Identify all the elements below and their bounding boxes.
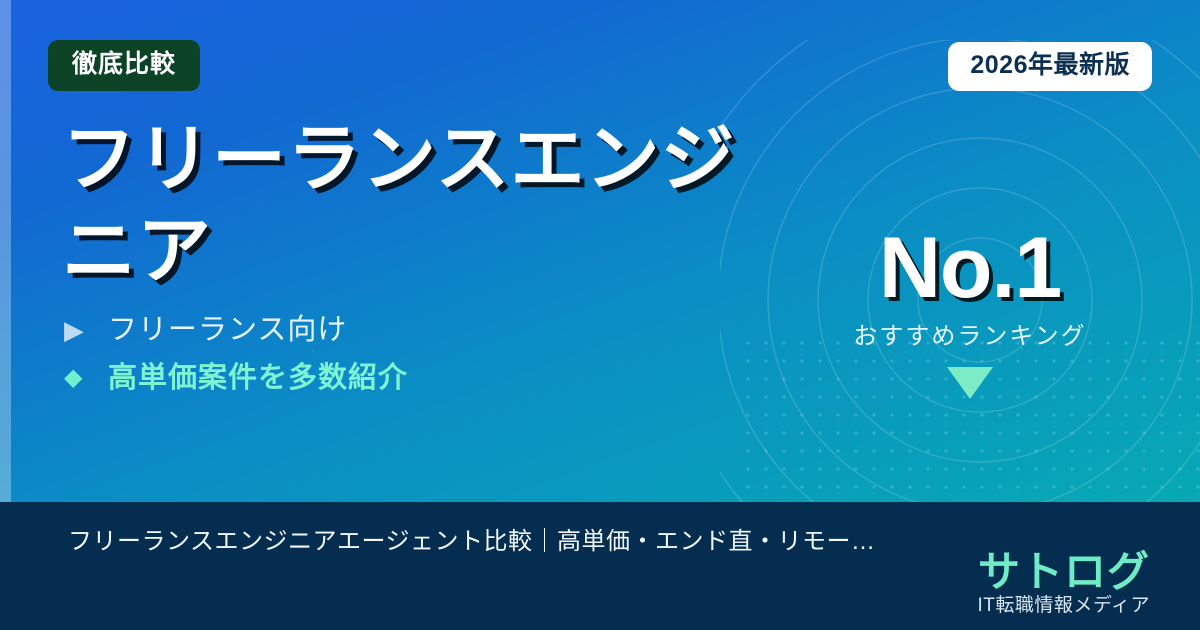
- list-item: ◆ 高単価案件を多数紹介: [64, 354, 408, 402]
- rank-number: No.1: [760, 225, 1180, 311]
- footer-bar: フリーランスエンジニアエージェント比較｜高単価・エンド直・リモー… サトログ I…: [0, 502, 1200, 630]
- hero-section: 徹底比較 2026年最新版 フリーランスエンジ ニア ▶ フリーランス向け ◆ …: [0, 0, 1200, 502]
- feature-label: フリーランス向け: [108, 316, 347, 345]
- brand-name: サトログ: [977, 550, 1150, 594]
- year-badge: 2026年最新版: [948, 42, 1152, 91]
- ranking-badge: No.1 おすすめランキング: [760, 225, 1180, 399]
- feature-label: 高単価案件を多数紹介: [108, 364, 408, 393]
- triangle-right-icon: ▶: [64, 317, 108, 343]
- compare-badge: 徹底比較: [48, 40, 200, 91]
- ogp-card: 徹底比較 2026年最新版 フリーランスエンジ ニア ▶ フリーランス向け ◆ …: [0, 0, 1200, 630]
- brand-logo: サトログ IT転職情報メディア: [977, 550, 1150, 618]
- rank-caption: おすすめランキング: [760, 325, 1180, 349]
- list-item: ▶ フリーランス向け: [64, 306, 408, 354]
- feature-list: ▶ フリーランス向け ◆ 高単価案件を多数紹介: [64, 306, 408, 402]
- page-title: フリーランスエンジ ニア: [62, 113, 782, 297]
- triangle-down-icon: [947, 367, 993, 399]
- footer-article-title: フリーランスエンジニアエージェント比較｜高単価・エンド直・リモー…: [68, 521, 876, 556]
- brand-tagline: IT転職情報メディア: [977, 595, 1150, 618]
- diamond-icon: ◆: [64, 366, 108, 390]
- left-accent-stripe: [0, 0, 11, 502]
